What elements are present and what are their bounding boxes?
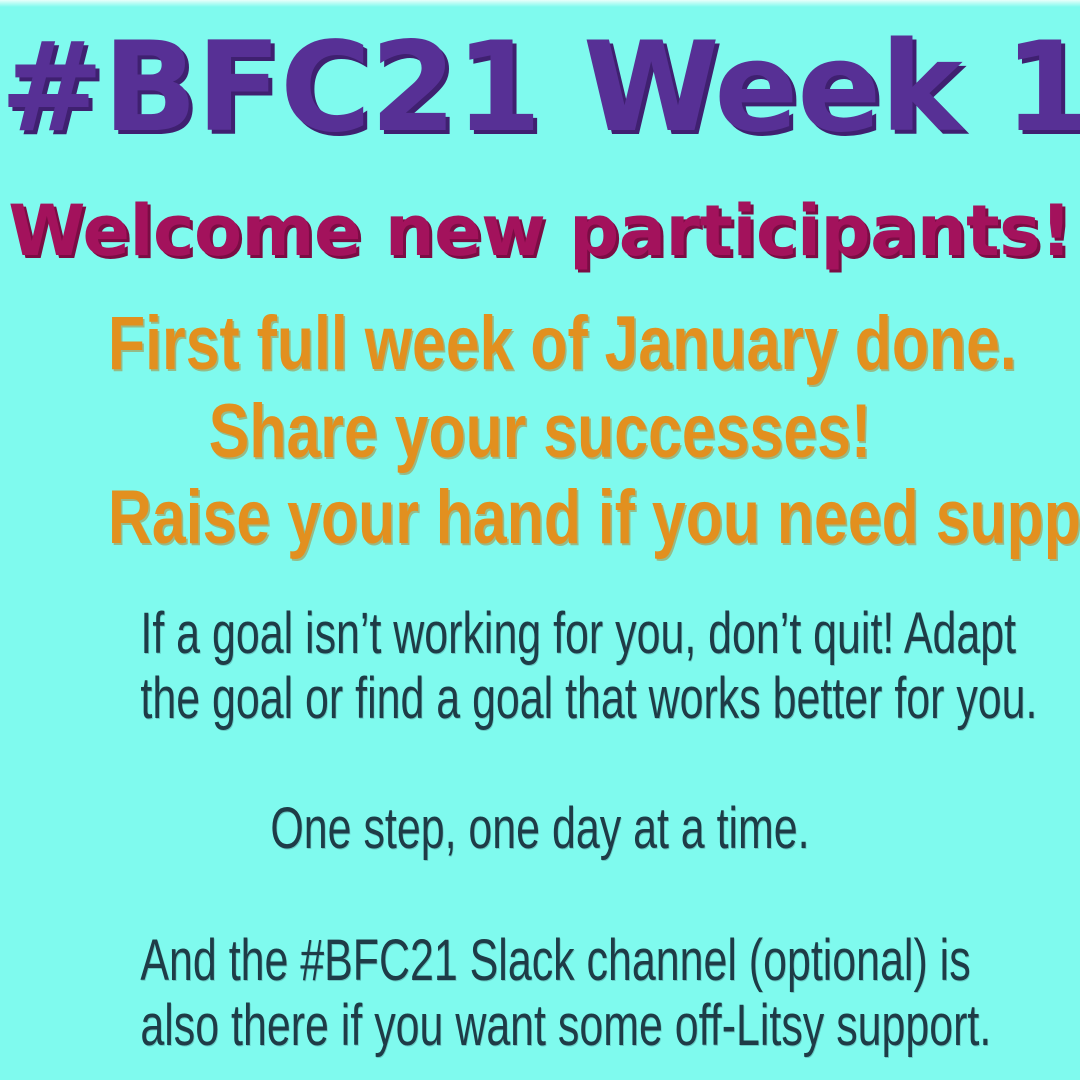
highlight-line-1: First full week of January done. [108, 306, 972, 382]
body-paragraph-3-line-1: And the #BFC21 Slack channel (optional) … [140, 932, 939, 990]
highlight-line-2: Share your successes! [108, 394, 972, 470]
body-paragraph-2-line-1: One step, one day at a time. [140, 800, 939, 858]
body-paragraph-3-line-2: also there if you want some off-Litsy su… [140, 997, 939, 1055]
poster-canvas: #BFC21 Week 1 Welcome new participants! … [0, 0, 1080, 1080]
body-paragraph-1-line-2: the goal or find a goal that works bette… [140, 670, 939, 728]
highlight-line-3: Raise your hand if you need support. [108, 480, 972, 556]
body-paragraph-1-line-1: If a goal isn’t working for you, don’t q… [140, 605, 939, 663]
page-title: #BFC21 Week 1 [0, 26, 1080, 150]
page-subtitle: Welcome new participants! [0, 196, 1080, 266]
